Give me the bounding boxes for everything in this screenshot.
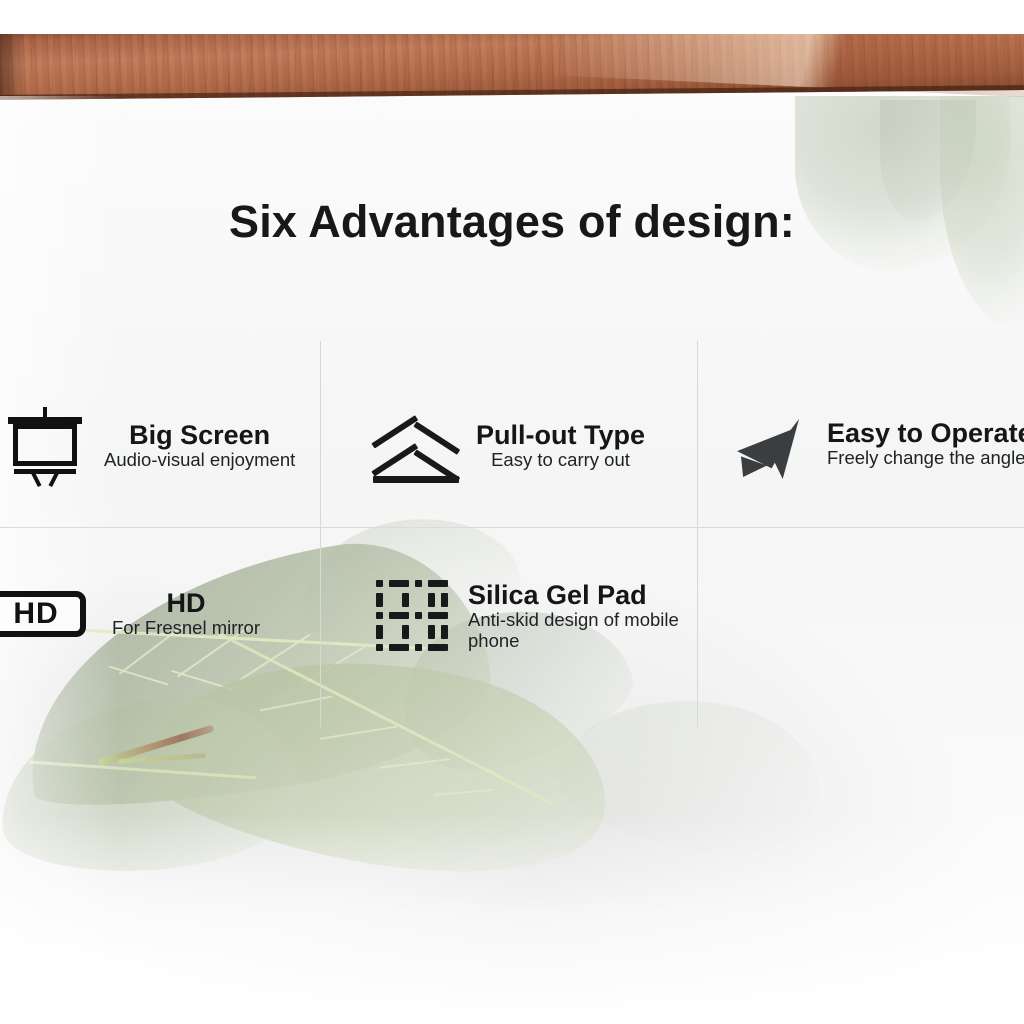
feature-cell-easy-to-operate: Easy to Operate Freely change the angle: [735, 398, 1024, 490]
feature-cell-silica-gel-pad: Silica Gel Pad Anti-skid design of mobil…: [376, 570, 686, 662]
hd-badge-label: HD: [0, 591, 86, 637]
feature-subtitle: Easy to carry out: [491, 450, 630, 471]
feature-subtitle: Anti-skid design of mobile phone: [468, 610, 683, 651]
infographic-canvas: Six Advantages of design: Big Screen Aud…: [0, 0, 1024, 1024]
dashed-grid-pad-icon: [376, 580, 454, 652]
feature-title: Big Screen: [129, 421, 270, 450]
feature-subtitle: Audio-visual enjoyment: [104, 450, 295, 471]
hd-badge-icon: HD: [4, 591, 90, 637]
feature-cell-pull-out-type: Pull-out Type Easy to carry out: [370, 400, 690, 492]
feature-subtitle: For Fresnel mirror: [112, 618, 260, 639]
double-chevron-up-icon: [370, 407, 462, 485]
feature-title: Easy to Operate: [827, 419, 1024, 448]
feature-title: Pull-out Type: [476, 421, 645, 450]
feature-cell-big-screen: Big Screen Audio-visual enjoyment: [8, 400, 320, 492]
feature-cell-hd: HD HD For Fresnel mirror: [4, 578, 316, 650]
feature-title: HD: [167, 589, 206, 618]
feature-title: Silica Gel Pad: [468, 581, 647, 610]
paper-plane-icon: [735, 407, 813, 481]
projector-screen-icon: [8, 407, 82, 485]
feature-subtitle: Freely change the angle: [827, 448, 1024, 469]
page-title: Six Advantages of design:: [0, 196, 1024, 248]
